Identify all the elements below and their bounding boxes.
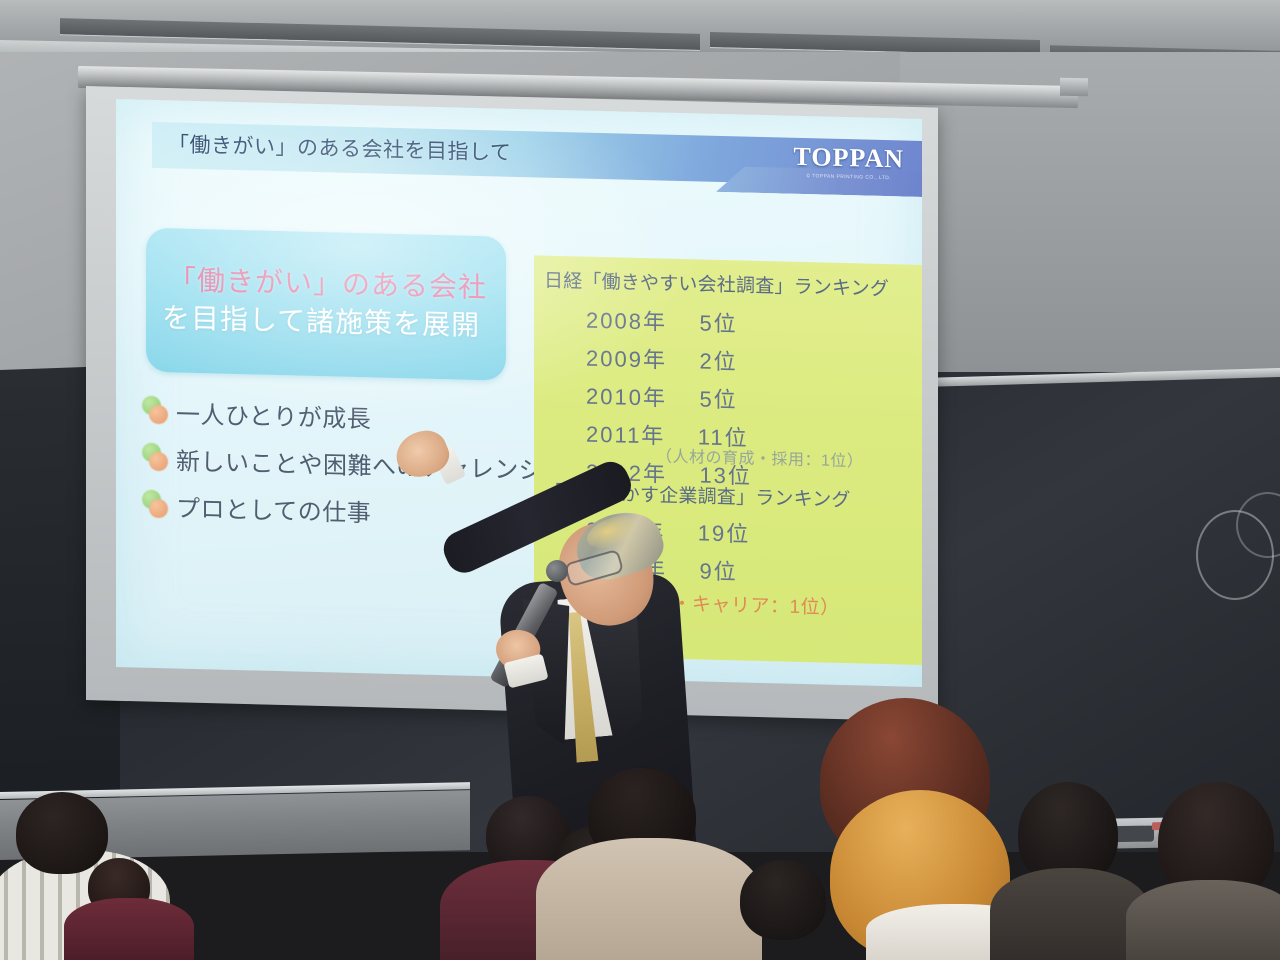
audience-member bbox=[536, 838, 762, 960]
audience bbox=[0, 640, 1280, 960]
bullet-label: 一人ひとりが成長 bbox=[176, 394, 371, 434]
double-circle-bullet-icon bbox=[142, 490, 172, 521]
survey1-row: 2009年 2位 bbox=[586, 341, 752, 377]
survey1-rank: 2位 bbox=[699, 348, 737, 374]
survey1-row: 2010年 5位 bbox=[586, 379, 752, 415]
bullet-label: プロとしての仕事 bbox=[176, 488, 371, 528]
toppan-logo-text: TOPPAN bbox=[794, 142, 904, 175]
callout-line-2: を目指して諸施策を展開 bbox=[162, 296, 507, 345]
audience-member bbox=[16, 792, 108, 874]
toppan-logo: TOPPAN © TOPPAN PRINTING CO., LTD. bbox=[794, 142, 904, 182]
survey1-rank: 5位 bbox=[699, 386, 737, 412]
survey1-rank: 5位 bbox=[699, 310, 737, 336]
microphone-head bbox=[546, 560, 568, 582]
audience-member bbox=[64, 898, 194, 960]
survey1-year: 2009年 bbox=[586, 346, 667, 373]
survey1-year: 2008年 bbox=[586, 308, 667, 335]
screen-roller-cap bbox=[1060, 78, 1088, 97]
photo-scene: 「働きがい」のある会社を目指して TOPPAN © TOPPAN PRINTIN… bbox=[0, 0, 1280, 960]
double-circle-bullet-icon bbox=[142, 443, 172, 474]
double-circle-bullet-icon bbox=[142, 396, 172, 427]
audience-member bbox=[740, 860, 826, 940]
audience-member bbox=[1126, 880, 1280, 960]
survey1-year: 2010年 bbox=[586, 384, 667, 411]
survey1-row: 2008年 5位 bbox=[586, 303, 752, 339]
